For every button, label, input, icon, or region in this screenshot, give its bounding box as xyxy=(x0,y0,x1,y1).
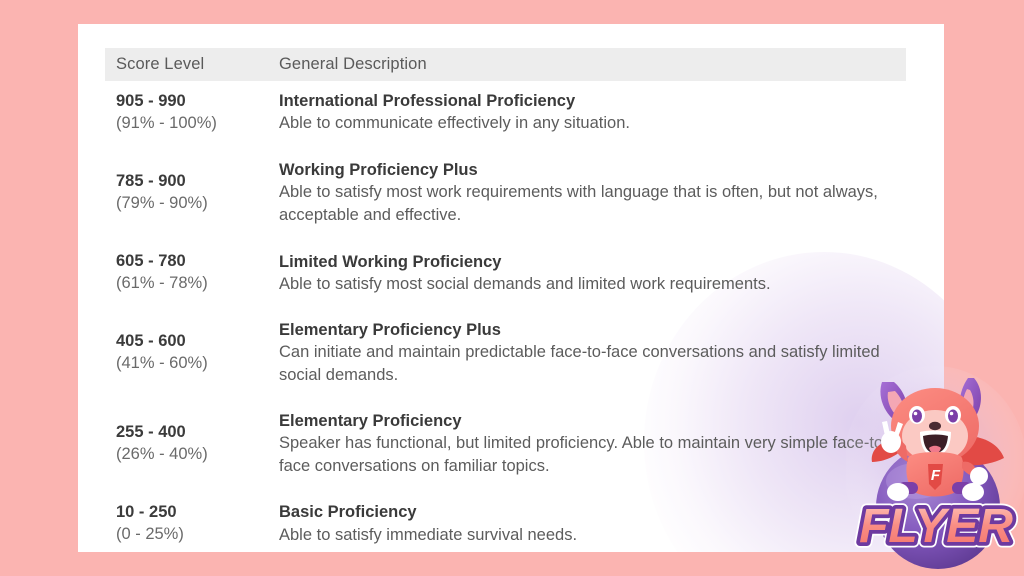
description-cell: Elementary Proficiency Plus Can initiate… xyxy=(279,319,906,387)
score-range: 905 - 990 xyxy=(116,91,279,113)
score-level-cell: 605 - 780 (61% - 78%) xyxy=(105,251,279,295)
right-ear xyxy=(959,378,981,426)
score-percent: (41% - 60%) xyxy=(116,353,279,375)
score-level-cell: 785 - 900 (79% - 90%) xyxy=(105,171,279,215)
score-percent: (79% - 90%) xyxy=(116,193,279,215)
score-percent: (0 - 25%) xyxy=(116,524,279,546)
right-hand xyxy=(970,467,988,485)
score-range: 405 - 600 xyxy=(116,331,279,353)
right-ear-inner xyxy=(963,389,974,420)
description-cell: Elementary Proficiency Speaker has funct… xyxy=(279,410,906,478)
description-cell: International Professional Proficiency A… xyxy=(279,90,906,135)
proficiency-description: Speaker has functional, but limited prof… xyxy=(279,432,897,478)
right-foot xyxy=(962,483,984,501)
table-row: 10 - 250 (0 - 25%) Basic Proficiency Abl… xyxy=(105,490,906,552)
proficiency-title: Limited Working Proficiency xyxy=(279,251,898,273)
score-percent: (61% - 78%) xyxy=(116,273,279,295)
score-range: 255 - 400 xyxy=(116,422,279,444)
score-percent: (26% - 40%) xyxy=(116,444,279,466)
proficiency-title: Elementary Proficiency Plus xyxy=(279,319,898,341)
description-cell: Limited Working Proficiency Able to sati… xyxy=(279,251,906,296)
proficiency-description: Able to satisfy most work requirements w… xyxy=(279,181,897,227)
score-level-cell: 10 - 250 (0 - 25%) xyxy=(105,502,279,546)
score-level-table: Score Level General Description 905 - 99… xyxy=(105,48,906,552)
score-level-cell: 255 - 400 (26% - 40%) xyxy=(105,422,279,466)
column-header-general-description: General Description xyxy=(279,55,906,74)
table-row: 255 - 400 (26% - 40%) Elementary Profici… xyxy=(105,399,906,491)
table-header-row: Score Level General Description xyxy=(105,48,906,81)
proficiency-description: Able to satisfy immediate survival needs… xyxy=(279,524,897,547)
right-eye xyxy=(945,406,961,424)
right-eye-glint xyxy=(950,412,954,416)
score-level-cell: 905 - 990 (91% - 100%) xyxy=(105,91,279,135)
score-percent: (91% - 100%) xyxy=(116,113,279,135)
proficiency-title: Working Proficiency Plus xyxy=(279,159,898,181)
content-card: Score Level General Description 905 - 99… xyxy=(78,24,944,552)
proficiency-title: International Professional Proficiency xyxy=(279,90,898,112)
description-cell: Working Proficiency Plus Able to satisfy… xyxy=(279,159,906,227)
table-row: 785 - 900 (79% - 90%) Working Proficienc… xyxy=(105,149,906,240)
score-range: 10 - 250 xyxy=(116,502,279,524)
proficiency-title: Basic Proficiency xyxy=(279,501,898,523)
proficiency-description: Able to communicate effectively in any s… xyxy=(279,112,897,135)
proficiency-description: Can initiate and maintain predictable fa… xyxy=(279,341,897,387)
table-row: 605 - 780 (61% - 78%) Limited Working Pr… xyxy=(105,240,906,309)
slide-canvas: Score Level General Description 905 - 99… xyxy=(0,0,1024,576)
table-row: 905 - 990 (91% - 100%) International Pro… xyxy=(105,81,906,149)
column-header-score-level: Score Level xyxy=(105,55,279,74)
score-range: 605 - 780 xyxy=(116,251,279,273)
right-cuff xyxy=(952,482,972,494)
cape xyxy=(950,436,1004,465)
score-level-cell: 405 - 600 (41% - 60%) xyxy=(105,331,279,375)
right-pupil xyxy=(948,410,958,423)
description-cell: Basic Proficiency Able to satisfy immedi… xyxy=(279,501,906,546)
proficiency-title: Elementary Proficiency xyxy=(279,410,898,432)
table-row: 405 - 600 (41% - 60%) Elementary Profici… xyxy=(105,309,906,399)
score-range: 785 - 900 xyxy=(116,171,279,193)
right-arm xyxy=(962,462,978,476)
proficiency-description: Able to satisfy most social demands and … xyxy=(279,273,897,296)
